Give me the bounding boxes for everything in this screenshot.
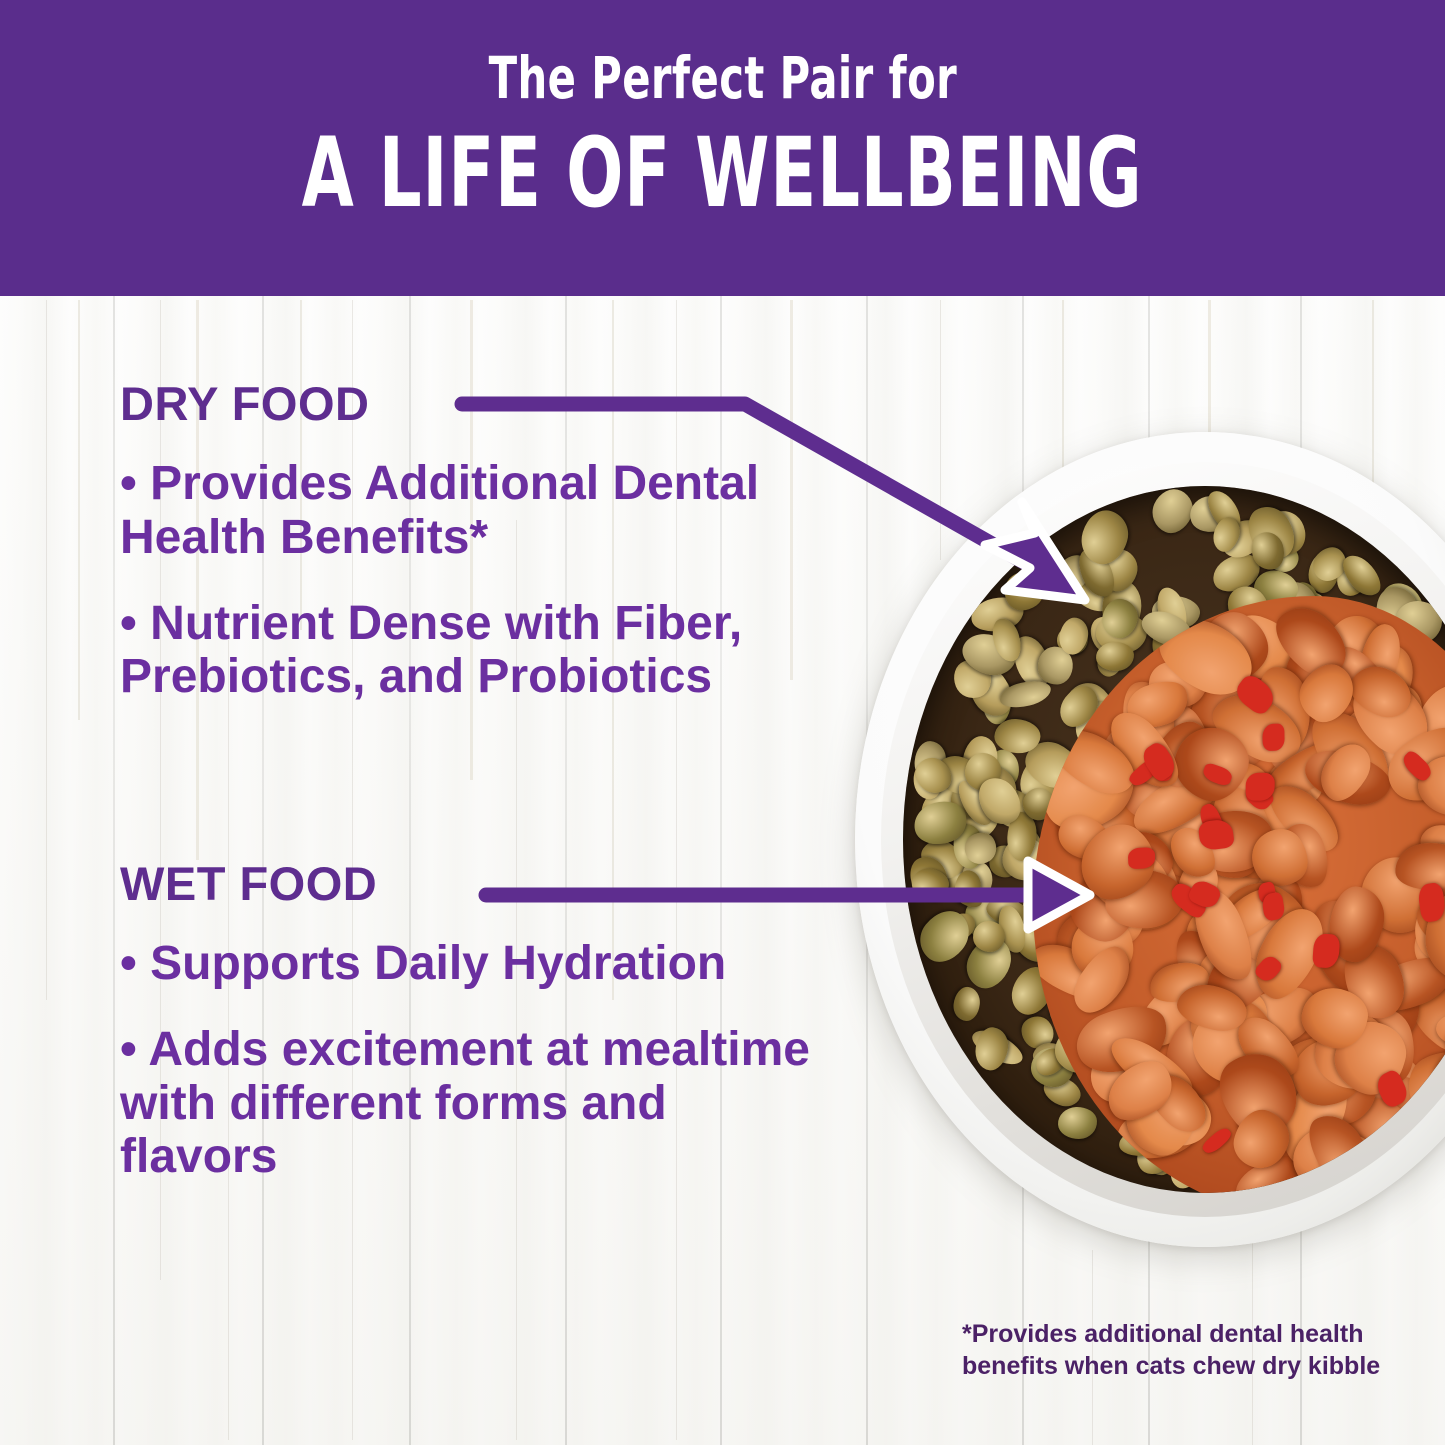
footnote-line-2: benefits when cats chew dry kibble [962, 1350, 1382, 1382]
dry-food-bullet-list: • Provides Additional Dental Health Bene… [120, 457, 820, 704]
pet-food-bowl-photo [855, 432, 1445, 1247]
wet-food-bullet-list: • Supports Daily Hydration • Adds excite… [120, 937, 820, 1184]
list-item-text: Nutrient Dense with Fiber, Prebiotics, a… [120, 597, 742, 704]
list-item: • Provides Additional Dental Health Bene… [120, 457, 820, 565]
bowl-interior [903, 486, 1445, 1193]
promo-graphic: The Perfect Pair for A LIFE OF WELLBEING… [0, 0, 1445, 1445]
red-pepper-piece [1262, 723, 1285, 750]
wet-food-section: WET FOOD • Supports Daily Hydration • Ad… [120, 856, 820, 1216]
list-item: • Adds excitement at mealtime with diffe… [120, 1023, 820, 1184]
bullet-dot-icon: • [120, 1023, 137, 1076]
red-pepper-piece [1417, 882, 1445, 923]
list-item-text: Provides Additional Dental Health Benefi… [120, 457, 759, 564]
list-item: • Supports Daily Hydration [120, 937, 820, 991]
kibble-piece [952, 986, 981, 1023]
kibble-piece [1057, 1106, 1098, 1139]
list-item-text: Adds excitement at mealtime with differe… [120, 1023, 810, 1184]
list-item-text: Supports Daily Hydration [150, 937, 726, 990]
bullet-dot-icon: • [120, 597, 137, 650]
header-line-1: The Perfect Pair for [488, 49, 957, 107]
bullet-dot-icon: • [120, 457, 137, 510]
red-pepper-piece [1127, 847, 1154, 869]
bullet-dot-icon: • [120, 937, 137, 990]
footnote-line-1: *Provides additional dental health [962, 1318, 1382, 1350]
footnote: *Provides additional dental health benef… [962, 1318, 1382, 1382]
dry-food-section: DRY FOOD • Provides Additional Dental He… [120, 376, 820, 736]
header-line-2: A LIFE OF WELLBEING [302, 125, 1143, 221]
dry-food-heading: DRY FOOD [120, 376, 820, 431]
header-banner: The Perfect Pair for A LIFE OF WELLBEING [0, 0, 1445, 296]
wet-food-heading: WET FOOD [120, 856, 820, 911]
list-item: • Nutrient Dense with Fiber, Prebiotics,… [120, 597, 820, 705]
